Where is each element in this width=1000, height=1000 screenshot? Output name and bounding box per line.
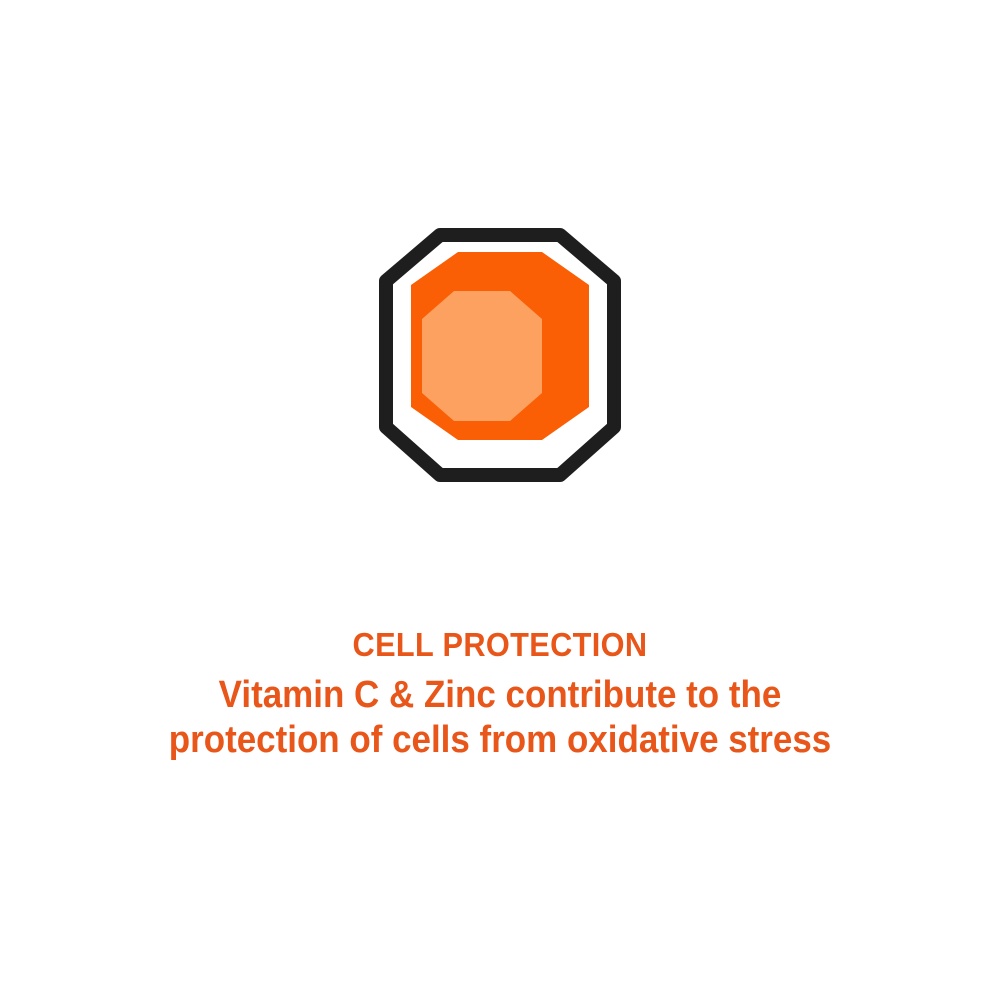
page-title: CELL PROTECTION	[35, 625, 965, 665]
icon-container	[0, 0, 1000, 600]
benefit-description: Vitamin C & Zinc contribute to the prote…	[40, 673, 960, 763]
protective-octagon-shield-icon	[320, 186, 680, 546]
benefit-description-line-1: Vitamin C & Zinc contribute to the	[40, 673, 960, 718]
benefit-description-line-2: protection of cells from oxidative stres…	[40, 718, 960, 763]
cell-protection-benefit-card: CELL PROTECTION Vitamin C & Zinc contrib…	[0, 0, 1000, 1000]
benefit-text-block: CELL PROTECTION Vitamin C & Zinc contrib…	[0, 625, 1000, 763]
octagon-core-fill	[422, 291, 542, 421]
